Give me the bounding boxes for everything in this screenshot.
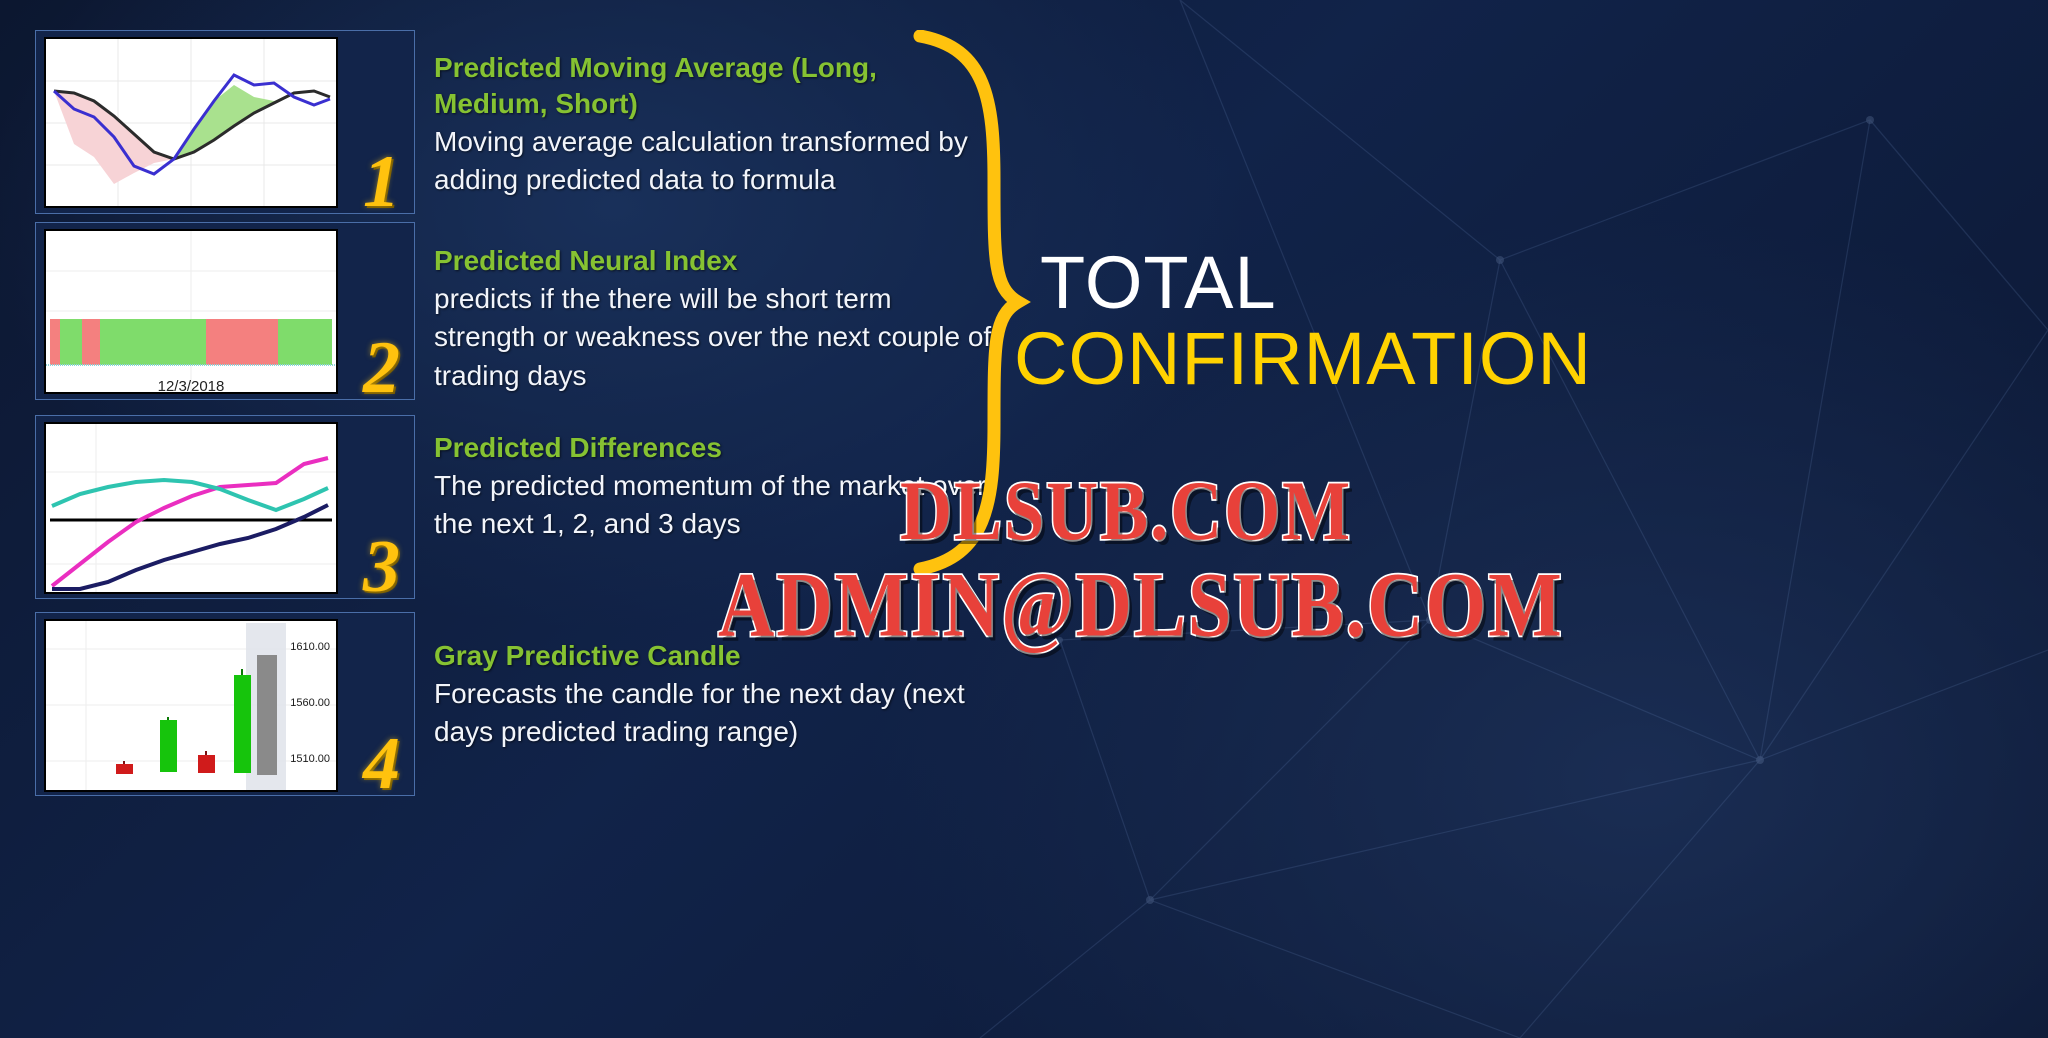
step-number-2: 2	[363, 331, 400, 405]
price-tick-1: 1610.00	[290, 641, 330, 653]
step-number-4: 4	[363, 727, 400, 801]
chart-predicted-differences	[46, 424, 336, 592]
step-number-3: 3	[363, 530, 400, 604]
infographic-canvas: 1	[0, 0, 2048, 1038]
price-tick-3: 1510.00	[290, 753, 330, 765]
step-number-1: 1	[363, 145, 400, 219]
headline-total: TOTAL	[1040, 240, 1277, 325]
candlestick-price-axis: 1610.00 1560.00 1510.00	[272, 621, 334, 790]
watermark-site: DLSUB.COM	[900, 463, 1352, 561]
headline-confirmation: CONFIRMATION	[1014, 316, 1592, 401]
watermark-email: ADMIN@DLSUB.COM	[718, 552, 1564, 658]
neural-index-bars	[50, 319, 332, 365]
chart-panel-neural-index[interactable]: 12/3/2018 2	[35, 222, 415, 400]
price-tick-2: 1560.00	[290, 697, 330, 709]
chart-moving-average	[46, 39, 336, 206]
chart-panel-gray-predictive-candle[interactable]: 1610.00 1560.00 1510.00 4	[35, 612, 415, 796]
chart-neural-index	[46, 231, 336, 392]
feature-body-4: Forecasts the candle for the next day (n…	[434, 675, 994, 752]
chart-panel-moving-average[interactable]: 1	[35, 30, 415, 214]
neural-index-date-label: 12/3/2018	[46, 378, 336, 395]
chart-panel-predicted-differences[interactable]: 3	[35, 415, 415, 599]
